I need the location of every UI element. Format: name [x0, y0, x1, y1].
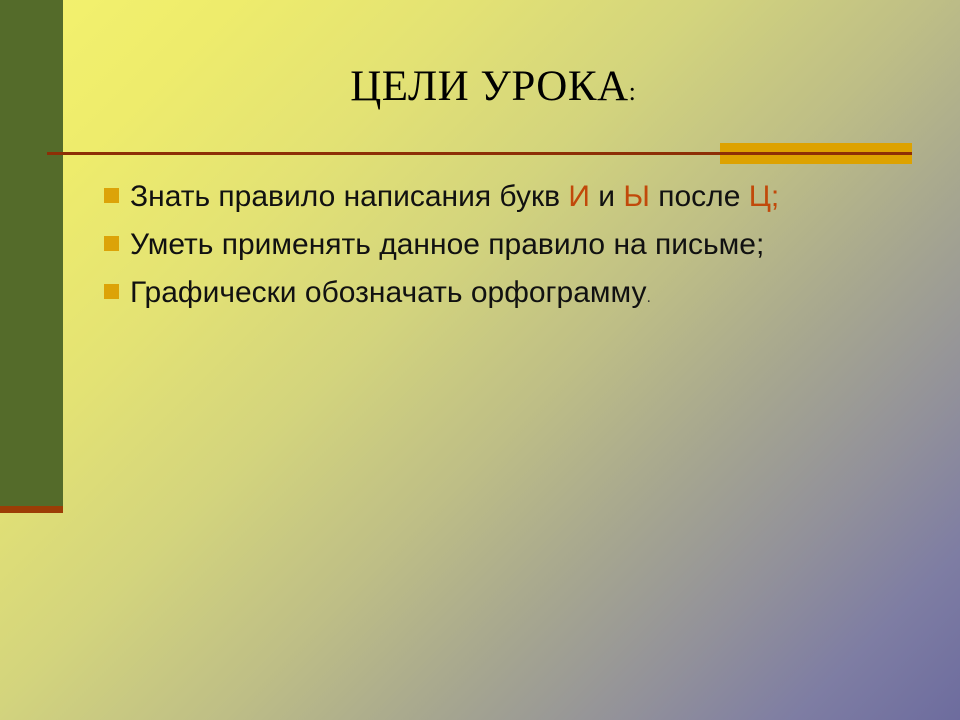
bullet-text-run: Ц;: [749, 180, 780, 213]
bullet-text-1: Знать правило написания букв И и Ы после…: [130, 174, 930, 219]
square-bullet-icon: [104, 188, 119, 203]
square-bullet-icon: [104, 236, 119, 251]
presentation-slide: ЦЕЛИ УРОКА: Знать правило написания букв…: [0, 0, 960, 720]
bullet-text-2: Уметь применять данное правило на письме…: [130, 222, 830, 267]
bullet-text-3: Графически обозначать орфограмму.: [130, 270, 930, 320]
bullet-text-run: Ы: [623, 180, 650, 213]
decorative-green-column: [0, 0, 63, 506]
list-item: Уметь применять данное правило на письме…: [104, 222, 934, 267]
bullet-text-run: после: [650, 180, 749, 213]
slide-title-block: ЦЕЛИ УРОКА:: [63, 62, 923, 112]
square-bullet-icon: [104, 284, 119, 299]
list-item: Графически обозначать орфограмму.: [104, 270, 934, 320]
bullet-text-run: .: [646, 289, 650, 306]
bullet-text-run: И: [568, 180, 590, 213]
list-item: Знать правило написания букв И и Ы после…: [104, 174, 934, 219]
bullet-text-run: Уметь применять данное правило на письме…: [130, 228, 764, 261]
bullet-text-run: Знать правило написания букв: [130, 180, 568, 213]
slide-body: Знать правило написания букв И и Ы после…: [104, 174, 934, 323]
bullet-text-run: и: [590, 180, 623, 213]
decorative-accent-bar: [0, 506, 63, 513]
header-divider-line: [47, 152, 912, 155]
slide-title-colon: :: [629, 77, 636, 106]
bullet-text-run: Графически обозначать орфограмму: [130, 276, 646, 309]
slide-title: ЦЕЛИ УРОКА: [350, 63, 628, 110]
